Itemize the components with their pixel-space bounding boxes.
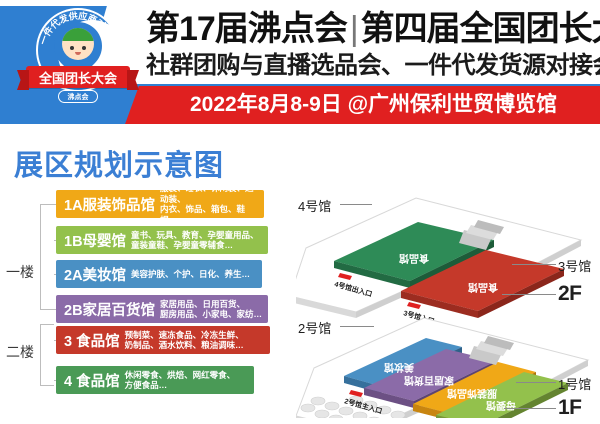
event-subtitle: 社群团购与直播选品会、一件代发货源对接会 — [146, 50, 596, 82]
logo-footer-badge: 沸点会 — [58, 90, 98, 103]
expo-floorplan-page: 一件代发供应商对接会 全国团长大会 沸点会 第17届沸点会|第四届全国团长大会 … — [0, 0, 600, 424]
hall-list-item[interactable]: 1A服装饰品馆 服装、睡衣、休闲装、运动装、 内衣、饰品、箱包、鞋帽… — [56, 190, 264, 218]
hall-desc: 休闲零食、烘焙、网红零食、 方便食品… — [120, 370, 241, 391]
hall-list-item[interactable]: 1B母婴馆 童书、玩具、教育、孕婴童用品、 童装童鞋、孕婴童零辅食… — [56, 226, 268, 254]
callout-2hall-line — [340, 326, 374, 327]
callout-1hall: 1号馆 — [558, 374, 591, 393]
hall-block-2a-label: 美妆馆 — [384, 361, 414, 374]
hall-block-1a-label: 服装饰品馆 — [447, 387, 497, 400]
hall-desc: 童书、玩具、教育、孕婴童用品、 童装童鞋、孕婴童零辅食… — [126, 230, 264, 251]
logo-ribbon-label: 全国团长大会 — [39, 68, 117, 87]
logo-eye-right-icon — [82, 46, 86, 50]
floor-label-2f: 二楼 — [6, 342, 34, 362]
hall-code: 4 食品馆 — [56, 370, 120, 391]
hall-list-item[interactable]: 2B家居百货馆 家居用品、日用百货、 厨房用品、小家电、家纺… — [56, 295, 268, 323]
hall-list-item[interactable]: 2A美妆馆 美容护肤、个护、日化、养生… — [56, 260, 262, 288]
hall-code: 1B母婴馆 — [56, 230, 126, 251]
callout-3hall: 3号馆 — [558, 256, 591, 275]
level-label-1f: 1F — [558, 396, 582, 420]
event-date-venue: 2022年8月8-9日 @广州保利世贸博览馆 — [190, 90, 590, 120]
hall-block-4-label: 食品馆 — [399, 252, 430, 265]
hall-block-2b-label: 家居百货馆 — [404, 374, 454, 387]
venue-3d-diagram: 食品馆 食品馆 4号馆出入口 3号馆入口 — [296, 168, 600, 418]
hall-code: 2B家居百货馆 — [56, 299, 155, 320]
hall-desc: 服装、睡衣、休闲装、运动装、 内衣、饰品、箱包、鞋帽… — [155, 190, 264, 218]
floor-2f-group: 食品馆 食品馆 4号馆出入口 3号馆入口 — [296, 198, 581, 326]
hall-list: 一楼 二楼 1A服装饰品馆 服装、睡衣、休闲装、运动装、 内衣、饰品、箱包、鞋帽… — [0, 190, 300, 400]
event-title-main: 第17届沸点会|第四届全国团长大会 — [146, 8, 596, 50]
hall-code: 2A美妆馆 — [56, 264, 126, 285]
event-logo: 一件代发供应商对接会 全国团长大会 沸点会 — [24, 6, 132, 118]
logo-eye-left-icon — [70, 46, 74, 50]
logo-hat-icon — [62, 28, 94, 41]
venue-3d-svg: 食品馆 食品馆 4号馆出入口 3号馆入口 — [296, 168, 600, 418]
event-title-part1: 第17届沸点会 — [146, 10, 347, 48]
callout-4hall-line — [340, 204, 372, 205]
callout-4hall: 4号馆 — [298, 196, 331, 215]
event-header-banner: 一件代发供应商对接会 全国团长大会 沸点会 第17届沸点会|第四届全国团长大会 … — [0, 0, 600, 128]
callout-1hall-line — [516, 382, 556, 383]
hall-code: 1A服装饰品馆 — [56, 194, 155, 215]
logo-footer-label: 沸点会 — [68, 92, 89, 102]
floor-label-1f: 一楼 — [6, 262, 34, 282]
header-bottom-white-strip — [0, 124, 600, 128]
hall-desc: 家居用品、日用百货、 厨房用品、小家电、家纺… — [155, 299, 267, 320]
level-1f-line — [504, 408, 556, 409]
event-title-part2: 第四届全国团长大会 — [361, 10, 600, 48]
level-2f-line — [502, 294, 556, 295]
floor-1f-group: 美妆馆 家居百货馆 服装饰品馆 母婴馆 2号馆主入口 1号馆出口 — [296, 318, 588, 418]
floor-bracket-1f — [40, 204, 54, 310]
page-title: 展区规划示意图 — [14, 142, 224, 184]
hall-desc: 美容护肤、个护、日化、养生… — [126, 269, 255, 280]
logo-mouth-icon — [75, 52, 81, 55]
event-title-separator: | — [347, 10, 361, 48]
hall-code: 3 食品馆 — [56, 330, 120, 351]
callout-2hall: 2号馆 — [298, 318, 331, 337]
hall-list-item[interactable]: 3 食品馆 预制菜、速冻食品、冷冻生鲜、 奶制品、酒水饮料、粮油调味… — [56, 326, 270, 354]
hall-block-1b-label: 母婴馆 — [486, 399, 516, 412]
hall-desc: 预制菜、速冻食品、冷冻生鲜、 奶制品、酒水饮料、粮油调味… — [120, 330, 249, 351]
logo-ribbon: 全国团长大会 — [26, 66, 130, 88]
level-label-2f: 2F — [558, 282, 582, 306]
callout-3hall-line — [512, 264, 556, 265]
logo-mascot-face-icon — [62, 28, 94, 60]
hall-list-item[interactable]: 4 食品馆 休闲零食、烘焙、网红零食、 方便食品… — [56, 366, 254, 394]
hall-block-3-label: 食品馆 — [468, 281, 499, 294]
floor-bracket-2f — [40, 324, 54, 386]
